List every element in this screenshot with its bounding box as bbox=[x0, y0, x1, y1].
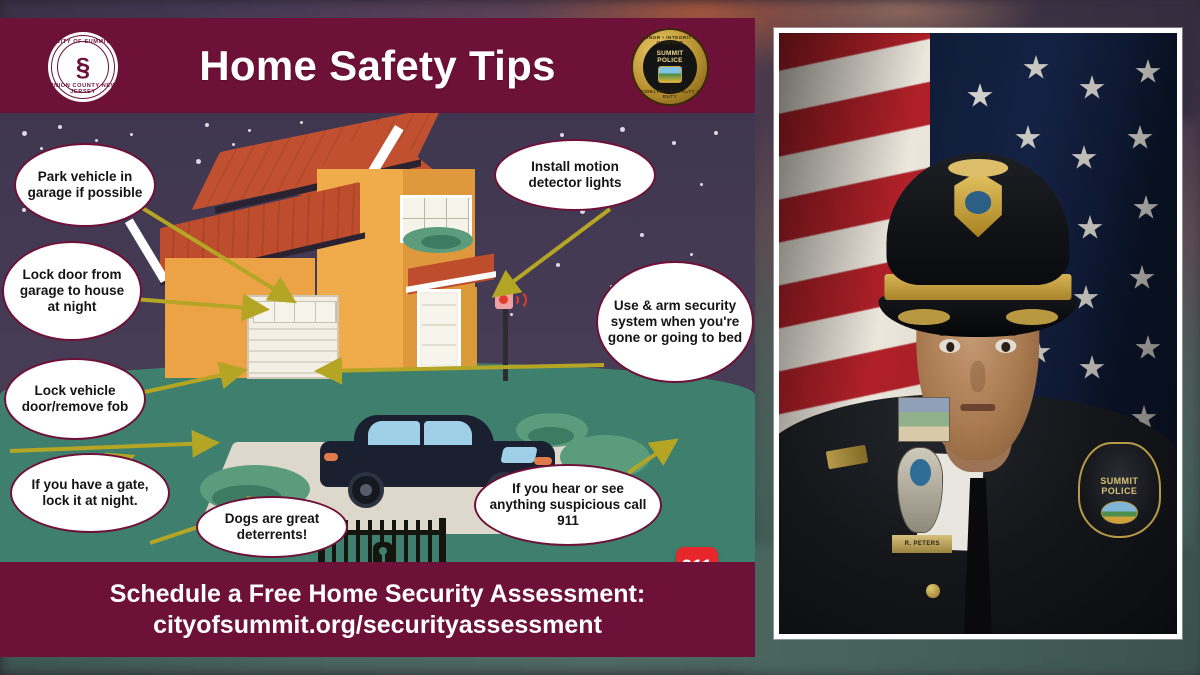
summit-police-badge-icon: HONOR • INTEGRITY • COURAGE SUMMIT POLIC… bbox=[633, 30, 707, 104]
seal-text-bottom: UNION COUNTY NEW JERSEY bbox=[48, 83, 118, 95]
house-illustration bbox=[165, 123, 545, 413]
city-of-summit-seal-icon: CITY OF SUMMIT § UNION COUNTY NEW JERSEY bbox=[48, 32, 118, 102]
screenshot-stage: CITY OF SUMMIT § UNION COUNTY NEW JERSEY… bbox=[0, 0, 1200, 675]
poster-header: CITY OF SUMMIT § UNION COUNTY NEW JERSEY… bbox=[0, 18, 755, 113]
patch-line-2: POLICE bbox=[1080, 486, 1160, 496]
badge-motto-bottom: FIDELITY • LOYALTY • DUTY bbox=[633, 89, 707, 99]
summit-police-shoulder-patch: SUMMIT POLICE bbox=[1078, 442, 1162, 538]
tip-bubble-call-911: If you hear or see anything suspicious c… bbox=[474, 464, 662, 546]
hat-eagle-icon bbox=[948, 159, 1008, 177]
patch-line-1: SUMMIT bbox=[1080, 476, 1160, 486]
tip-bubble-park-vehicle: Park vehicle in garage if possible bbox=[14, 143, 156, 227]
poster-title: Home Safety Tips bbox=[199, 42, 555, 90]
emergency-911-badge[interactable]: 911 ✆ bbox=[676, 547, 718, 562]
badge-shield-icon bbox=[658, 66, 682, 83]
poster-footer: Schedule a Free Home Security Assessment… bbox=[0, 562, 755, 657]
officer-figure: SUMMIT POLICE R. PETERS bbox=[779, 33, 1177, 634]
tip-bubble-motion-lights: Install motion detector lights bbox=[494, 139, 656, 211]
motion-detector-sensor-icon bbox=[495, 291, 525, 321]
footer-line-2: cityofsummit.org/securityassessment bbox=[153, 610, 602, 641]
home-safety-poster: CITY OF SUMMIT § UNION COUNTY NEW JERSEY… bbox=[0, 18, 755, 657]
tip-bubble-lock-garage-door: Lock door from garage to house at night bbox=[2, 241, 142, 341]
gate-lock-icon bbox=[373, 542, 393, 562]
police-chief-photo-frame: SUMMIT POLICE R. PETERS bbox=[774, 28, 1182, 639]
chest-badge-icon bbox=[898, 448, 942, 532]
officer-nameplate: R. PETERS bbox=[892, 535, 952, 553]
badge-line2: POLICE bbox=[657, 58, 682, 65]
tip-bubble-lock-gate: If you have a gate, lock it at night. bbox=[10, 453, 170, 533]
service-ribbons bbox=[898, 397, 950, 442]
badge-motto-top: HONOR • INTEGRITY • COURAGE bbox=[633, 35, 707, 45]
front-door bbox=[417, 289, 461, 369]
tip-bubble-lock-vehicle: Lock vehicle door/remove fob bbox=[4, 358, 146, 440]
police-chief-portrait: SUMMIT POLICE R. PETERS bbox=[779, 33, 1177, 634]
footer-line-1: Schedule a Free Home Security Assessment… bbox=[110, 579, 645, 610]
seal-text-top: CITY OF SUMMIT bbox=[48, 39, 118, 45]
tip-bubble-security-system: Use & arm security system when you're go… bbox=[596, 261, 754, 383]
illustration-scene: 911 ✆ bbox=[0, 113, 755, 562]
garage-door bbox=[247, 295, 339, 379]
tip-bubble-dogs: Dogs are great deterrents! bbox=[196, 496, 348, 558]
